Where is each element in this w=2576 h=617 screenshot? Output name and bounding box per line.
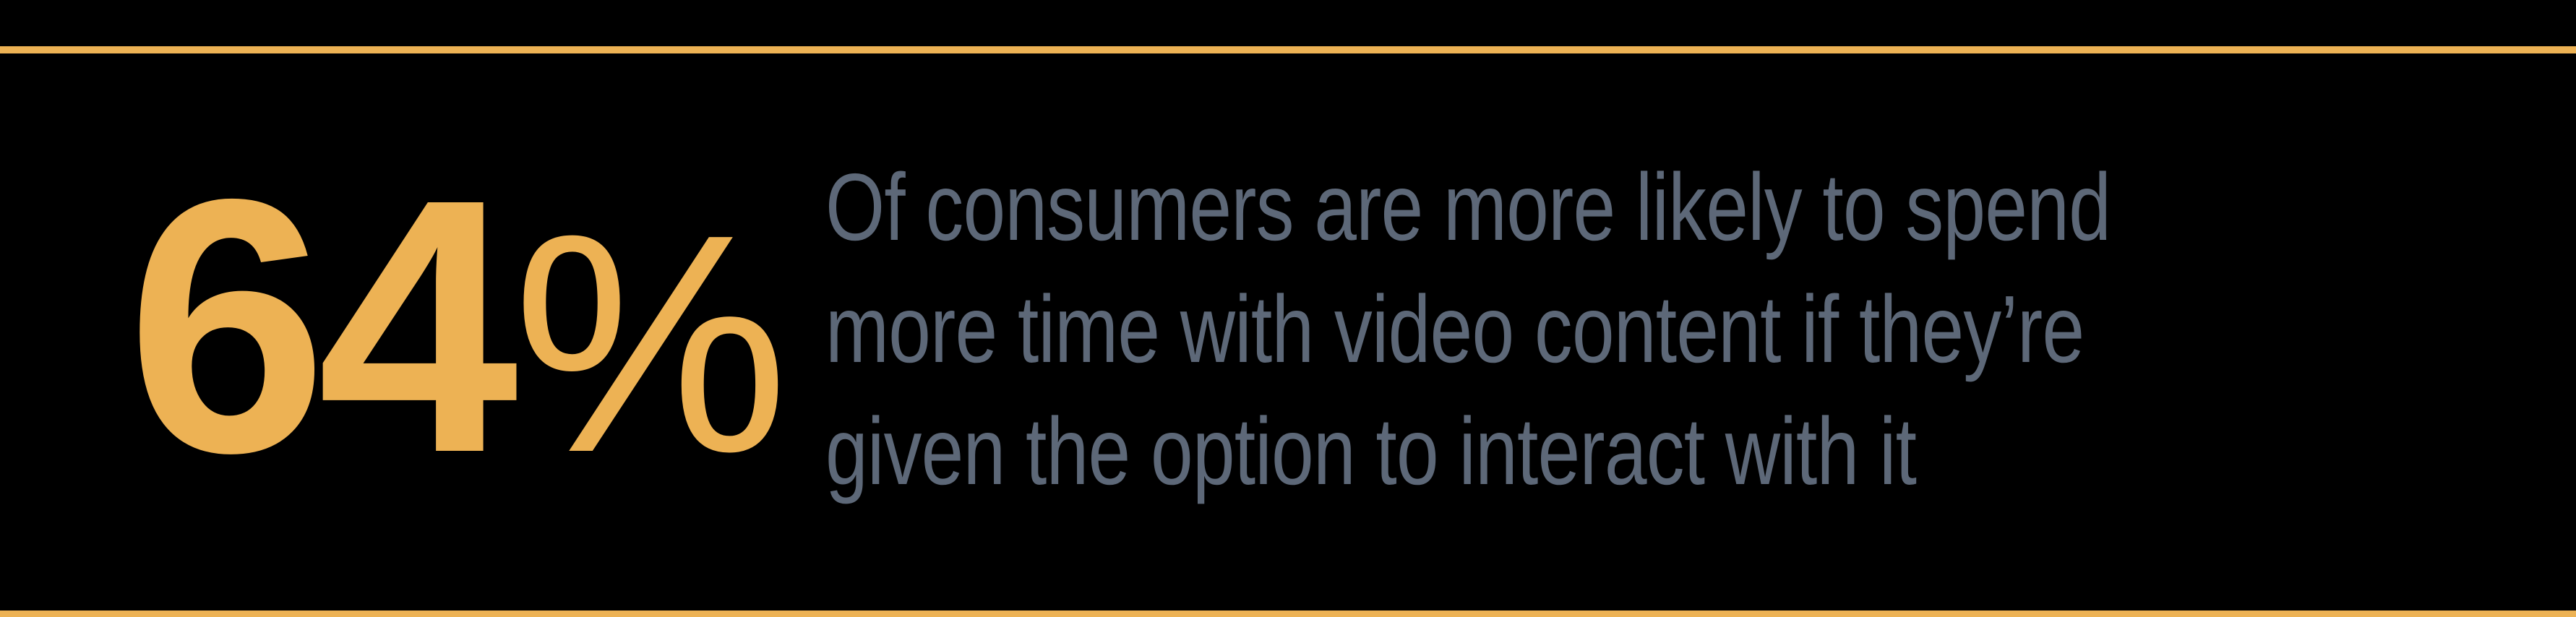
top-accent-rule (0, 46, 2576, 53)
stat-figure: 64 % (126, 160, 785, 492)
stat-number: 64 (126, 160, 508, 492)
stat-percent-symbol: % (512, 202, 784, 488)
description-line-3: given the option to interact with it (825, 391, 2226, 513)
stat-description: Of consumers are more likely to spend mo… (825, 147, 2226, 513)
description-line-2: more time with video content if they’re (825, 269, 2226, 391)
banner-content-row: 64 % Of consumers are more likely to spe… (0, 53, 2576, 610)
stat-callout-banner: 64 % Of consumers are more likely to spe… (0, 0, 2576, 617)
bottom-accent-rule (0, 610, 2576, 617)
description-line-1: Of consumers are more likely to spend (825, 147, 2226, 269)
